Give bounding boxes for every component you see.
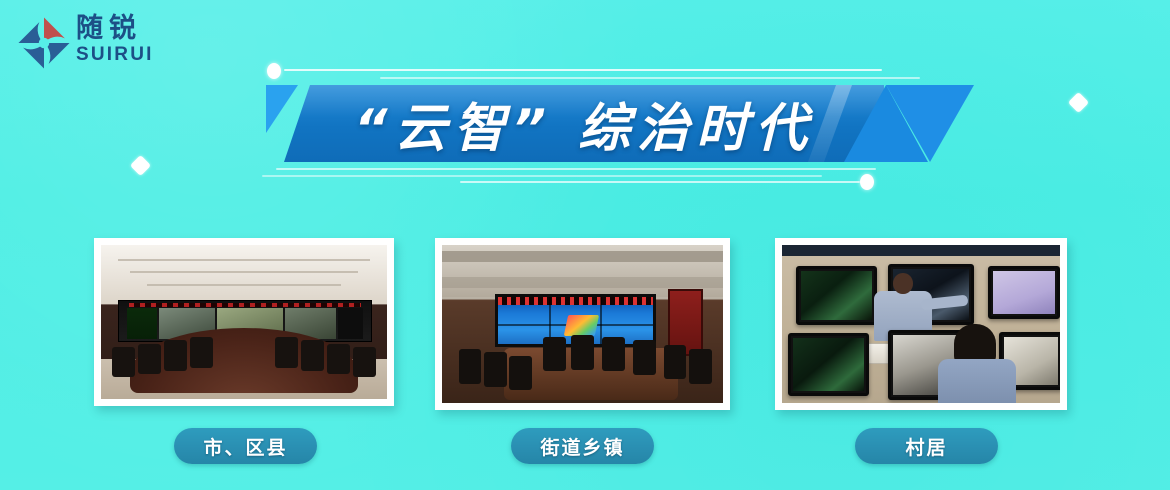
photo-frame <box>435 238 730 410</box>
card-label-village[interactable]: 村居 <box>855 428 998 464</box>
windows-logo <box>563 315 598 336</box>
photo-street-township-meeting-room <box>442 245 723 403</box>
banner-bottom-line-1 <box>276 168 876 170</box>
card-label-street-township[interactable]: 街道乡镇 <box>511 428 654 464</box>
title-banner: “云智” 综治时代 <box>262 58 942 186</box>
banner-title: “云智” 综治时代 <box>284 85 884 162</box>
banner-right-triangle-down <box>886 85 974 162</box>
card-label-text: 市、区县 <box>203 433 287 460</box>
banner-top-line-2 <box>380 77 920 79</box>
monitor <box>988 266 1060 319</box>
card-label-text: 街道乡镇 <box>540 433 624 460</box>
officer-head <box>893 273 912 294</box>
brand-name-cn: 随锐 <box>76 14 206 44</box>
card-label-city-district[interactable]: 市、区县 <box>174 428 317 464</box>
ceiling <box>101 245 387 304</box>
suirui-pinwheel-logo-icon <box>14 14 74 72</box>
brand-logo: 随锐 SUIRUI <box>14 12 214 74</box>
photo-frame <box>94 238 394 406</box>
banner-top-dot <box>267 63 281 79</box>
photo-frame <box>775 238 1067 410</box>
banner-bottom-line-3 <box>460 181 860 183</box>
photo-village-monitoring-room <box>782 245 1060 403</box>
banner-top-line-1 <box>284 69 882 71</box>
card-row: 市、区县 <box>0 238 1170 478</box>
brand-logo-text: 随锐 SUIRUI <box>76 14 206 66</box>
monitor <box>788 333 869 396</box>
photo-city-district-command-center <box>101 245 387 399</box>
seated-person-body <box>938 359 1016 403</box>
banner-bottom-dot <box>860 174 874 190</box>
decor-diamond-right <box>1068 92 1089 113</box>
card-label-text: 村居 <box>905 433 947 460</box>
brand-name-en: SUIRUI <box>76 44 206 66</box>
banner-bottom-line-2 <box>262 175 822 177</box>
decor-diamond-left <box>130 155 151 176</box>
wall-top-band <box>782 245 1060 256</box>
monitor <box>796 266 877 326</box>
slide-canvas: 随锐 SUIRUI “云智” 综治时代 <box>0 0 1170 490</box>
